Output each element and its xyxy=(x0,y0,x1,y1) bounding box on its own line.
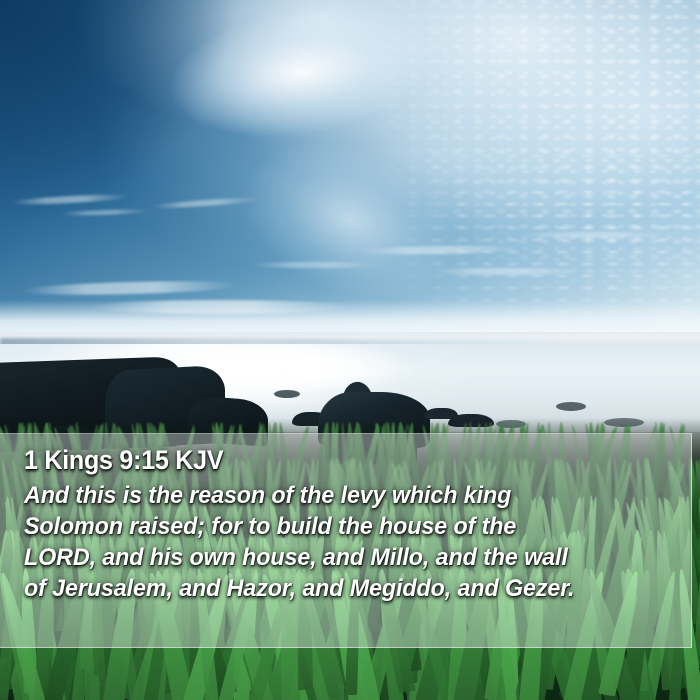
verse-text-line: of Jerusalem, and Hazor, and Megiddo, an… xyxy=(24,573,651,604)
verse-text-line: Solomon raised; for to build the house o… xyxy=(24,511,651,542)
cloud-streak xyxy=(520,232,670,238)
verse-body: And this is the reason of the levy which… xyxy=(24,480,670,604)
verse-image-canvas: 1 Kings 9:15 KJV And this is the reason … xyxy=(0,0,700,700)
verse-text-line: LORD, and his own house, and Millo, and … xyxy=(24,542,651,573)
cloud-streak xyxy=(430,268,580,275)
verse-text-container: 1 Kings 9:15 KJV And this is the reason … xyxy=(0,433,692,648)
verse-reference: 1 Kings 9:15 KJV xyxy=(24,443,625,477)
verse-text-line: And this is the reason of the levy which… xyxy=(24,480,651,511)
rock-small-far-right xyxy=(556,402,586,411)
rock-small-distant xyxy=(274,390,300,398)
cloud-streak xyxy=(250,262,380,268)
